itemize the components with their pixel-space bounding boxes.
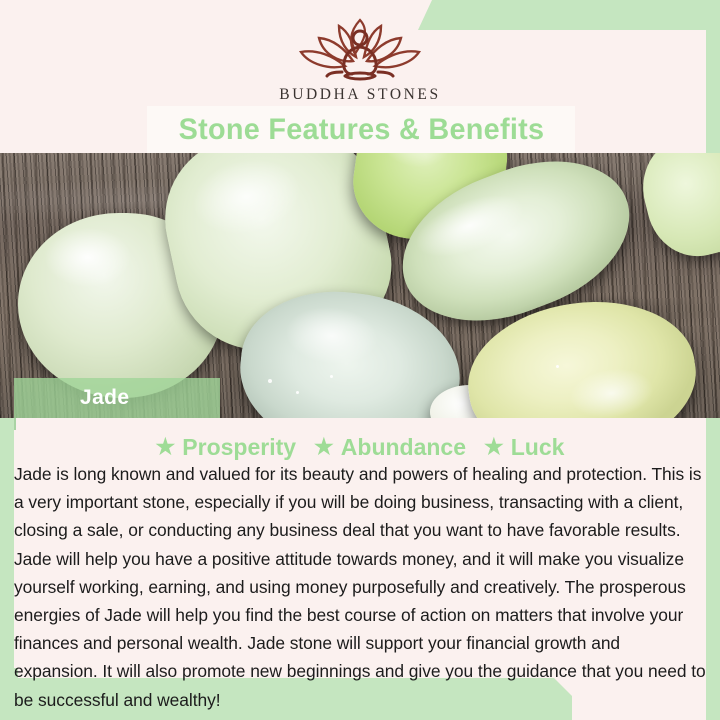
sparkle-highlight — [296, 391, 299, 394]
star-icon: ★ — [156, 436, 176, 458]
description-text: Jade is long known and valued for its be… — [14, 460, 706, 714]
benefit-item-luck: ★ Luck — [484, 434, 564, 461]
star-icon: ★ — [484, 436, 504, 458]
benefit-item-abundance: ★ Abundance — [314, 434, 466, 461]
benefit-label: Luck — [511, 434, 565, 461]
page-header: BUDDHA STONES Stone Features & Benefits — [0, 0, 720, 153]
sparkle-highlight — [556, 365, 559, 368]
sparkle-highlight — [330, 375, 333, 378]
star-icon: ★ — [314, 436, 334, 458]
benefit-label: Prosperity — [182, 434, 296, 461]
sparkle-highlight — [268, 379, 272, 383]
benefit-item-prosperity: ★ Prosperity — [156, 434, 297, 461]
stone-name-band: Jade — [14, 378, 220, 418]
stone-name-label: Jade — [80, 386, 129, 410]
benefit-label: Abundance — [341, 434, 466, 461]
brand-name: BUDDHA STONES — [279, 86, 440, 104]
brand-logo: BUDDHA STONES — [0, 14, 720, 104]
title-banner: Stone Features & Benefits — [147, 106, 575, 153]
accent-bar-right-lower — [706, 420, 720, 720]
benefits-row: ★ Prosperity ★ Abundance ★ Luck — [0, 430, 720, 464]
page-title: Stone Features & Benefits — [178, 113, 544, 147]
infographic-page: BUDDHA STONES Stone Features & Benefits … — [0, 0, 720, 720]
lotus-meditation-icon — [287, 14, 433, 84]
